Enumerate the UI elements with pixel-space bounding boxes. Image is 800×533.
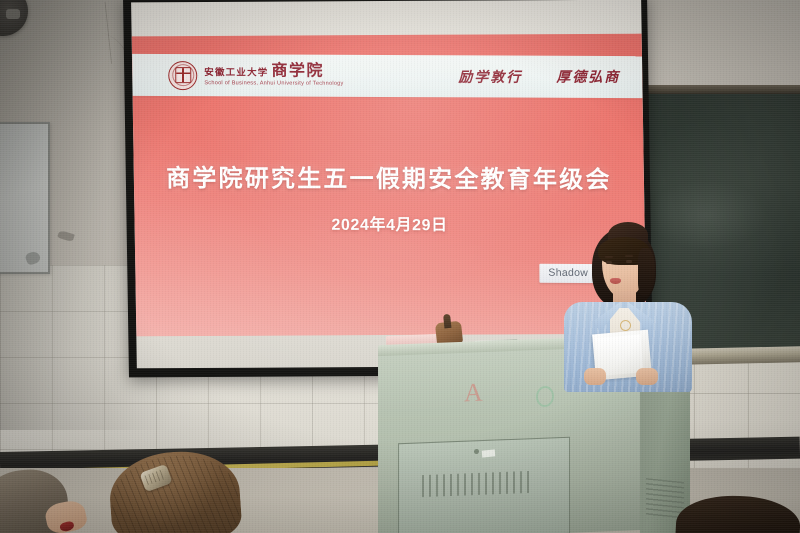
lectern-vent-grille: [422, 471, 532, 497]
school-motto: 励学敦行 厚德弘商: [458, 67, 620, 87]
presenter-eyebrow-right: [625, 255, 633, 257]
university-name-cn: 安徽工业大学: [204, 68, 268, 78]
lectern-marking-letter: A: [464, 378, 483, 409]
presenter-hand-right: [636, 368, 658, 385]
university-emblem-icon: [168, 61, 197, 90]
presenter: [556, 228, 706, 388]
motto-phrase-right: 厚德弘商: [556, 67, 620, 87]
institution-branding: 安徽工业大学 商学院 School of Business, Anhui Uni…: [168, 61, 343, 91]
presenter-mouth: [610, 278, 621, 284]
lectern-sticker: [482, 449, 495, 457]
presenter-eye-left: [606, 261, 612, 264]
classroom-presentation-scene: 安徽工业大学 商学院 School of Business, Anhui Uni…: [0, 0, 800, 533]
presenter-hand-left: [584, 368, 606, 385]
institution-name-block: 安徽工业大学 商学院 School of Business, Anhui Uni…: [204, 63, 343, 87]
motto-phrase-left: 励学敦行: [458, 67, 522, 87]
school-name-cn: 商学院: [271, 64, 324, 80]
presenter-necklace: [620, 320, 631, 331]
slide-header-band: 安徽工业大学 商学院 School of Business, Anhui Uni…: [132, 54, 642, 98]
slide-title: 商学院研究生五一假期安全教育年级会: [134, 158, 644, 195]
institution-name-english: School of Business, Anhui University of …: [204, 81, 343, 87]
presenter-eye-right: [626, 260, 632, 263]
presenter-eyebrow-left: [605, 256, 613, 258]
institution-name-chinese: 安徽工业大学 商学院: [204, 63, 343, 80]
